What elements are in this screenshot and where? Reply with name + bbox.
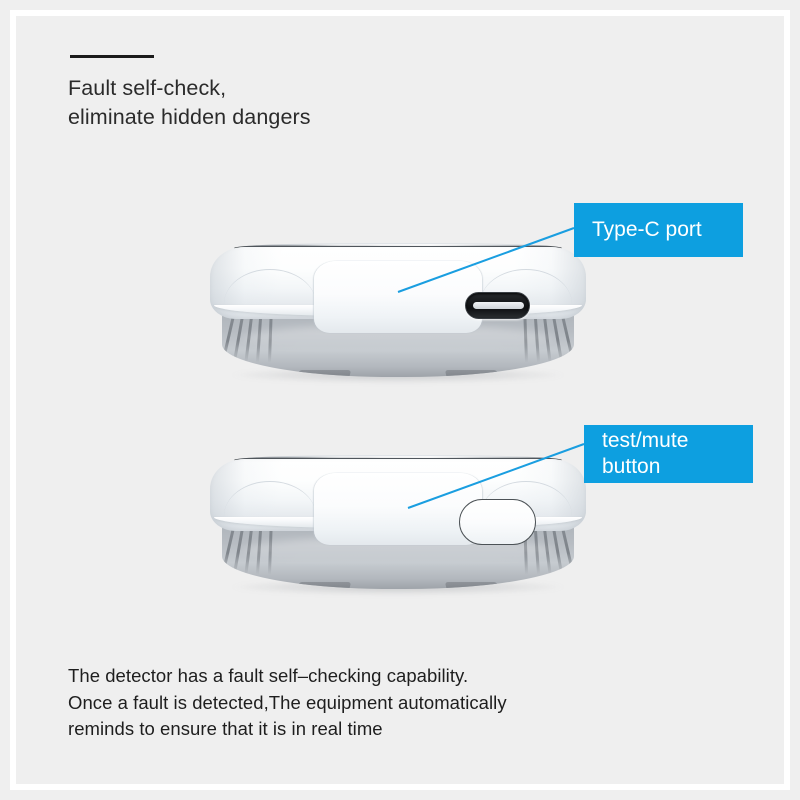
device-foot-left <box>297 582 351 589</box>
device-seam-highlight <box>274 244 574 246</box>
page-title: Fault self-check, eliminate hidden dange… <box>68 74 488 132</box>
callout-label-type-c-port: Type-C port <box>574 203 743 257</box>
accent-rule <box>70 55 154 58</box>
device-foot-right <box>445 582 499 589</box>
detector-device-top <box>210 243 586 377</box>
usb-type-c-port-icon <box>465 292 530 319</box>
infographic-page: Fault self-check, eliminate hidden dange… <box>0 0 800 800</box>
detector-device-bottom <box>210 455 586 589</box>
device-center-panel <box>314 473 482 545</box>
callout-label-test-mute-button: test/mute button <box>584 425 753 483</box>
test-mute-button-icon[interactable] <box>459 499 536 545</box>
device-center-panel <box>314 261 482 333</box>
device-foot-left <box>297 370 351 377</box>
description-text: The detector has a fault self–checking c… <box>68 663 668 743</box>
device-foot-right <box>445 370 499 377</box>
device-seam-highlight <box>274 456 574 458</box>
